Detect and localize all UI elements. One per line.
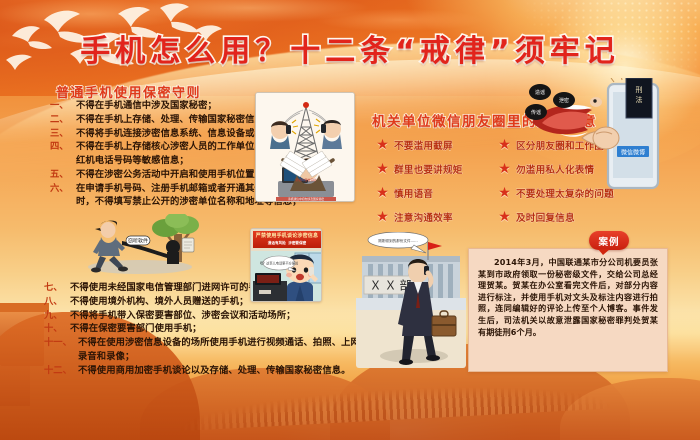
- rule-number: 九、: [44, 310, 70, 323]
- rule-number: 十、: [44, 323, 70, 336]
- rule-item: 九、 不得将手机带入保密要害部位、涉密会议和活动场所；: [44, 310, 374, 323]
- star-item-label: 注意沟通效率: [394, 210, 453, 224]
- star-icon: ★: [376, 187, 389, 200]
- law-book-label-char2: 法: [636, 95, 643, 104]
- rule-number: 八、: [44, 296, 70, 309]
- bubble-label-0: 造谣: [535, 89, 545, 96]
- businessman-speech-bubble: 刚刚领到的那份文件……: [378, 238, 418, 243]
- star-list-item: ★ 慎用语音: [376, 186, 498, 200]
- poster-root: 手机怎么用？十二条“戒律”须牢记 普通手机使用保密守则 一、 不得在手机通信中涉…: [0, 0, 700, 440]
- rule-text: 不得将手机带入保密要害部位、涉密会议和活动场所；: [70, 310, 296, 323]
- eavesdrop-illustration: 窃听软件: [78, 214, 202, 276]
- star-item-label: 及时回复信息: [516, 210, 575, 224]
- star-icon: ★: [376, 163, 389, 176]
- rule-item: 十一、 不得在使用涉密信息设备的场所使用手机进行视频通话、拍照、上网、: [44, 337, 374, 350]
- rule-number: 三、: [50, 128, 76, 141]
- bubble-label-1: 泄密: [559, 97, 569, 104]
- star-list-item: ★ 注意沟通效率: [376, 210, 498, 224]
- case-study-text: 2014年3月，中国联通某市分公司机要员张某到市政府领取一份秘密级文件，交给公司…: [478, 257, 658, 338]
- rule-number: 十一、: [44, 337, 78, 350]
- rule-text: 不得在使用涉密信息设备的场所使用手机进行视频通话、拍照、上网、: [78, 337, 369, 350]
- prohibition-banner: 严禁使用手机谈论涉密信息 通话有风险 涉密要保密: [253, 231, 321, 248]
- rule-item-continuation: 录音和录像；: [44, 351, 374, 364]
- rule-number: 二、: [50, 114, 76, 127]
- star-item-label: 慎用语音: [394, 186, 433, 200]
- star-icon: ★: [498, 211, 511, 224]
- rule-text: 录音和录像；: [78, 351, 134, 364]
- poster-title: 手机怎么用？十二条“戒律”须牢记: [0, 26, 700, 70]
- star-icon: ★: [498, 187, 511, 200]
- rule-text: 不得使用境外机构、境外人员赠送的手机；: [70, 296, 249, 309]
- rule-text: 不得使用未经国家电信管理部门进网许可的手机；: [70, 282, 277, 295]
- eavesdrop-software-tag: 窃听软件: [128, 238, 148, 245]
- rule-number: 五、: [50, 169, 76, 182]
- illustration-businessman: ＸＸ部: [356, 232, 466, 368]
- rule-text: 不得使用商用加密手机谈论以及存储、处理、传输国家秘密信息。: [78, 365, 351, 378]
- rule-item: 七、 不得使用未经国家电信管理部门进网许可的手机；: [44, 282, 374, 295]
- star-list-item: ★ 不要滥用截屏: [376, 138, 498, 152]
- rule-number: 六、: [50, 183, 76, 196]
- app-label: 微信微博: [621, 149, 645, 157]
- cell-tower-illustration: 通话内容被窃听 手机通信中切勿涉及国家秘密: [256, 93, 355, 202]
- rule-number: 一、: [50, 100, 76, 113]
- star-icon: ★: [376, 211, 389, 224]
- rule-number: 七、: [44, 282, 70, 295]
- businessman-illustration: ＸＸ部: [356, 232, 466, 368]
- rule-item: 八、 不得使用境外机构、境外人员赠送的手机；: [44, 296, 374, 309]
- illustration-eavesdrop-software: 窃听软件: [78, 214, 202, 276]
- illustration-officer-banner: 喂？这事儿电话里不方便说 严禁使用手机谈论涉密信息 通话有风险 涉密要保密: [250, 228, 322, 302]
- illustration-mouth-phone: 刑 法 微信微博 造谣 泄密 传谣: [522, 78, 662, 190]
- rule-item: 十、 不得在保密要害部门使用手机；: [44, 323, 374, 336]
- illustration-cell-tower: 通话内容被窃听 手机通信中切勿涉及国家秘密: [255, 92, 355, 202]
- rule-item: 十二、 不得使用商用加密手机谈论以及存储、处理、传输国家秘密信息。: [44, 365, 374, 378]
- star-item-label: 不要滥用截屏: [394, 138, 453, 152]
- officer-speech-bubble: 喂？这事儿电话里不方便说: [260, 261, 299, 266]
- illustration-tower-caption: 通话内容被窃听: [295, 177, 316, 182]
- star-list-item: ★ 及时回复信息: [498, 210, 626, 224]
- left-section-heading: 普通手机使用保密守则: [56, 82, 201, 101]
- mouth-phone-illustration: 刑 法 微信微博 造谣 泄密 传谣: [522, 78, 662, 190]
- rule-number: 十二、: [44, 365, 78, 378]
- svg-text:手机通信中切勿涉及国家秘密: 手机通信中切勿涉及国家秘密: [288, 197, 325, 201]
- rule-text: 在申请手机号码、注册手机邮箱或者开通其他功能: [76, 183, 283, 196]
- rule-text: 不得在手机通信中涉及国家秘密；: [76, 100, 217, 113]
- star-icon: ★: [376, 139, 389, 152]
- bubble-label-2: 传谣: [531, 109, 541, 116]
- prohibition-banner-sub: 通话有风险 涉密要保密: [268, 240, 306, 247]
- rule-text: 不得在保密要害部门使用手机；: [70, 323, 202, 336]
- star-icon: ★: [498, 139, 511, 152]
- rule-text: 不得在手机上存储、处理、传输国家秘密信息；: [76, 114, 273, 127]
- star-item-label: 群里也要讲规矩: [394, 162, 463, 176]
- rule-number: 四、: [50, 141, 76, 154]
- case-study-box: 2014年3月，中国联通某市分公司机要员张某到市政府领取一份秘密级文件，交给公司…: [468, 248, 668, 372]
- case-badge: 案例: [589, 231, 629, 250]
- star-list-item: ★ 群里也要讲规矩: [376, 162, 498, 176]
- law-book-label-char1: 刑: [636, 86, 643, 94]
- rules-list-bottom: 七、 不得使用未经国家电信管理部门进网许可的手机； 八、 不得使用境外机构、境外…: [44, 282, 374, 378]
- rule-text: 红机电话号码等敏感信息；: [76, 155, 189, 168]
- star-icon: ★: [498, 163, 511, 176]
